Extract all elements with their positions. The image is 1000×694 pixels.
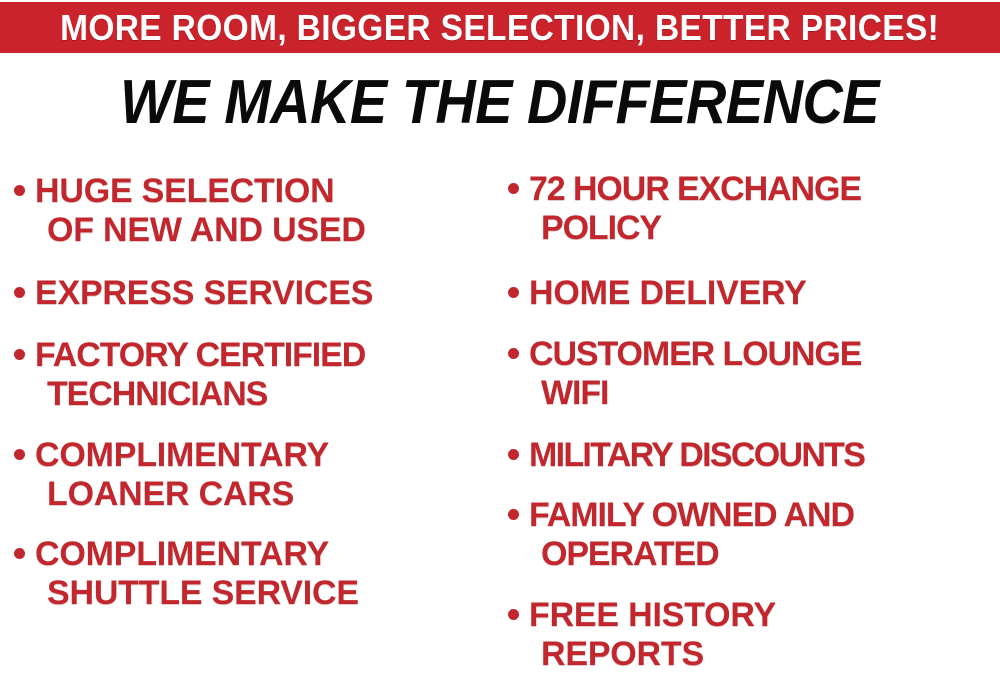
list-item-text: MILITARY DISCOUNTS [529, 436, 1000, 475]
list-item: FACTORY CERTIFIED TECHNICIANS [14, 336, 494, 414]
list-item-line1: HUGE SELECTION [35, 172, 334, 210]
list-item: FREE HISTORY REPORTS [508, 596, 1000, 674]
bullet-dot-icon [14, 548, 25, 559]
benefits-column-right: 72 HOUR EXCHANGE POLICY HOME DELIVERY CU… [508, 160, 1000, 694]
list-item: MILITARY DISCOUNTS [508, 436, 1000, 475]
list-item-line1: COMPLIMENTARY [35, 535, 329, 573]
list-item-text: COMPLIMENTARY LOANER CARS [35, 436, 494, 514]
bullet-dot-icon [14, 287, 25, 298]
list-item-line2: LOANER CARS [47, 475, 494, 514]
top-banner: MORE ROOM, BIGGER SELECTION, BETTER PRIC… [0, 2, 1000, 53]
headline: WE MAKE THE DIFFERENCE [0, 72, 1000, 134]
list-item: COMPLIMENTARY LOANER CARS [14, 436, 494, 514]
benefits-columns: HUGE SELECTION OF NEW AND USED EXPRESS S… [0, 160, 1000, 694]
list-item-line1: 72 HOUR EXCHANGE [529, 170, 861, 208]
bullet-dot-icon [14, 349, 25, 360]
list-item-line2: WIFI [541, 374, 1000, 413]
list-item-text: HOME DELIVERY [529, 274, 1000, 313]
bullet-dot-icon [508, 449, 519, 460]
list-item-text: HUGE SELECTION OF NEW AND USED [35, 172, 494, 250]
list-item-text: 72 HOUR EXCHANGE POLICY [529, 170, 1000, 248]
list-item-line2: OPERATED [541, 535, 1000, 574]
bullet-dot-icon [508, 609, 519, 620]
list-item-line1: CUSTOMER LOUNGE [529, 335, 861, 373]
list-item-text: FAMILY OWNED AND OPERATED [529, 496, 1000, 574]
list-item-line1: FAMILY OWNED AND [529, 496, 854, 534]
list-item: HUGE SELECTION OF NEW AND USED [14, 172, 494, 250]
list-item: COMPLIMENTARY SHUTTLE SERVICE [14, 535, 494, 613]
list-item: EXPRESS SERVICES [14, 274, 494, 313]
list-item-text: FACTORY CERTIFIED TECHNICIANS [35, 336, 494, 414]
list-item-line2: REPORTS [541, 635, 1000, 674]
list-item-text: FREE HISTORY REPORTS [529, 596, 1000, 674]
list-item: 72 HOUR EXCHANGE POLICY [508, 170, 1000, 248]
promo-poster: MORE ROOM, BIGGER SELECTION, BETTER PRIC… [0, 0, 1000, 694]
benefits-column-left: HUGE SELECTION OF NEW AND USED EXPRESS S… [14, 160, 494, 694]
list-item-line2: OF NEW AND USED [47, 211, 494, 250]
list-item-line1: FACTORY CERTIFIED [35, 336, 365, 374]
list-item-text: CUSTOMER LOUNGE WIFI [529, 335, 1000, 413]
headline-text: WE MAKE THE DIFFERENCE [121, 72, 880, 134]
bullet-dot-icon [14, 449, 25, 460]
bullet-dot-icon [508, 509, 519, 520]
list-item-line1: FREE HISTORY [529, 596, 776, 634]
bullet-dot-icon [14, 185, 25, 196]
list-item: FAMILY OWNED AND OPERATED [508, 496, 1000, 574]
list-item-line1: HOME DELIVERY [529, 274, 807, 312]
top-banner-text: MORE ROOM, BIGGER SELECTION, BETTER PRIC… [60, 10, 939, 46]
list-item-line1: EXPRESS SERVICES [35, 274, 373, 312]
list-item-text: COMPLIMENTARY SHUTTLE SERVICE [35, 535, 494, 613]
bullet-dot-icon [508, 348, 519, 359]
list-item-line2: TECHNICIANS [47, 375, 494, 414]
list-item-line2: POLICY [541, 209, 1000, 248]
list-item-line2: SHUTTLE SERVICE [47, 574, 494, 613]
bullet-dot-icon [508, 183, 519, 194]
list-item: HOME DELIVERY [508, 274, 1000, 313]
bullet-dot-icon [508, 287, 519, 298]
list-item: CUSTOMER LOUNGE WIFI [508, 335, 1000, 413]
list-item-line1: MILITARY DISCOUNTS [529, 436, 864, 474]
list-item-text: EXPRESS SERVICES [35, 274, 494, 313]
list-item-line1: COMPLIMENTARY [35, 436, 329, 474]
